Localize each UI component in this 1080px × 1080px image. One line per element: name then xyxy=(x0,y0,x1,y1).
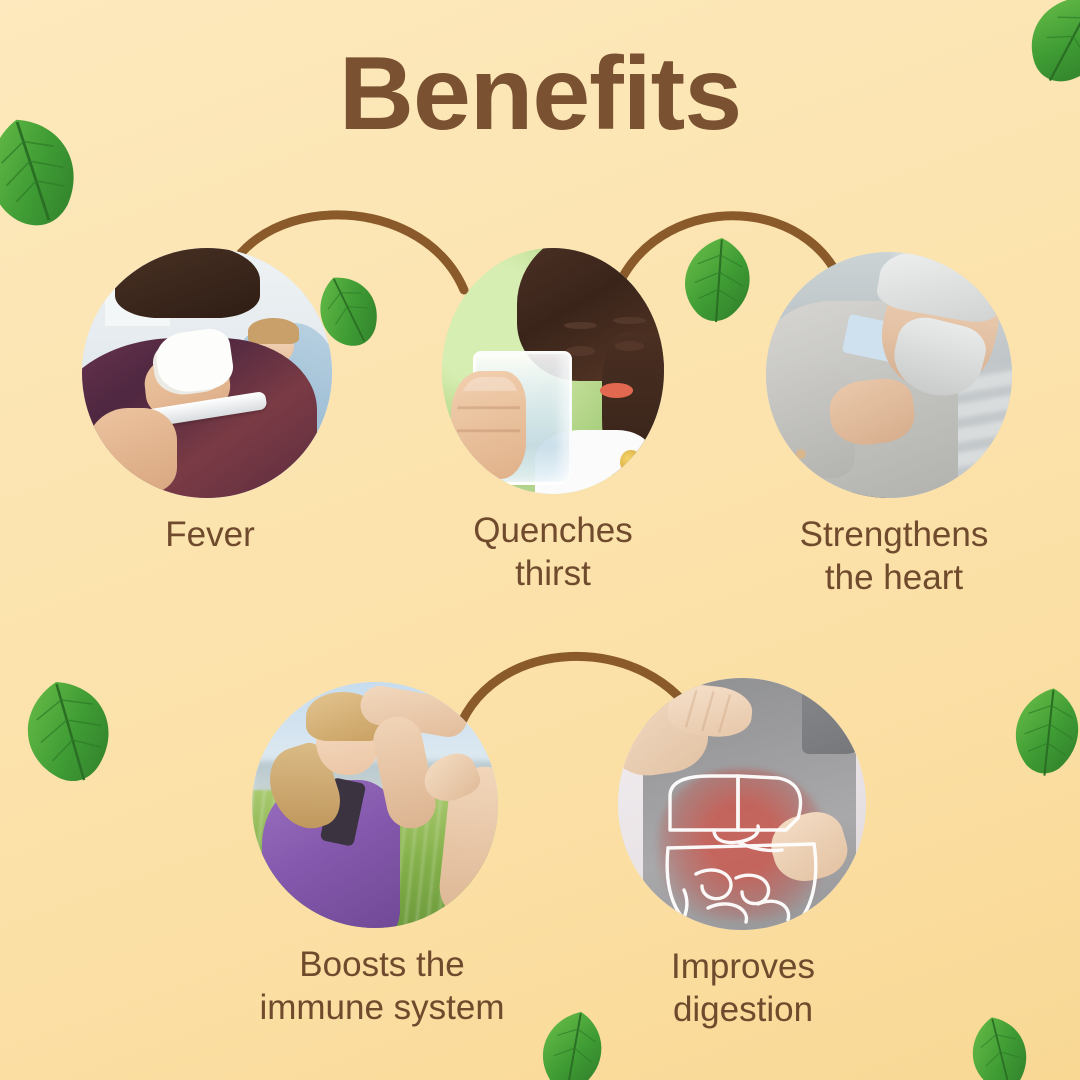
benefit-item-immune-system[interactable]: Boosts the immune system xyxy=(252,682,512,1029)
benefit-image-immune-system xyxy=(252,682,498,928)
benefit-image-strengthens-heart xyxy=(766,252,1012,498)
digestive-system-overlay-icon xyxy=(618,678,866,930)
benefit-caption-fever: Fever xyxy=(82,514,338,557)
leaf-icon xyxy=(953,998,1048,1080)
benefit-item-quenches-thirst[interactable]: Quenches thirst xyxy=(428,248,678,595)
benefit-image-fever xyxy=(82,248,332,498)
leaf-icon xyxy=(673,229,765,331)
benefit-caption-digestion: Improves digestion xyxy=(618,946,868,1031)
benefit-item-fever[interactable]: Fever xyxy=(82,248,338,557)
benefit-caption-quenches-thirst: Quenches thirst xyxy=(428,510,678,595)
benefit-caption-strengthens-heart: Strengthens the heart xyxy=(766,514,1022,599)
benefit-item-digestion[interactable]: Improves digestion xyxy=(618,678,868,1031)
leaf-icon xyxy=(4,660,136,802)
page-title: Benefits xyxy=(0,42,1080,146)
benefit-caption-immune-system: Boosts the immune system xyxy=(252,944,512,1029)
benefit-image-digestion xyxy=(618,678,866,930)
benefit-item-strengthens-heart[interactable]: Strengthens the heart xyxy=(766,252,1022,599)
leaf-icon xyxy=(526,994,623,1080)
leaf-icon xyxy=(1000,672,1080,792)
benefit-image-quenches-thirst xyxy=(442,248,664,494)
benefits-infographic: Benefits xyxy=(0,0,1080,1080)
